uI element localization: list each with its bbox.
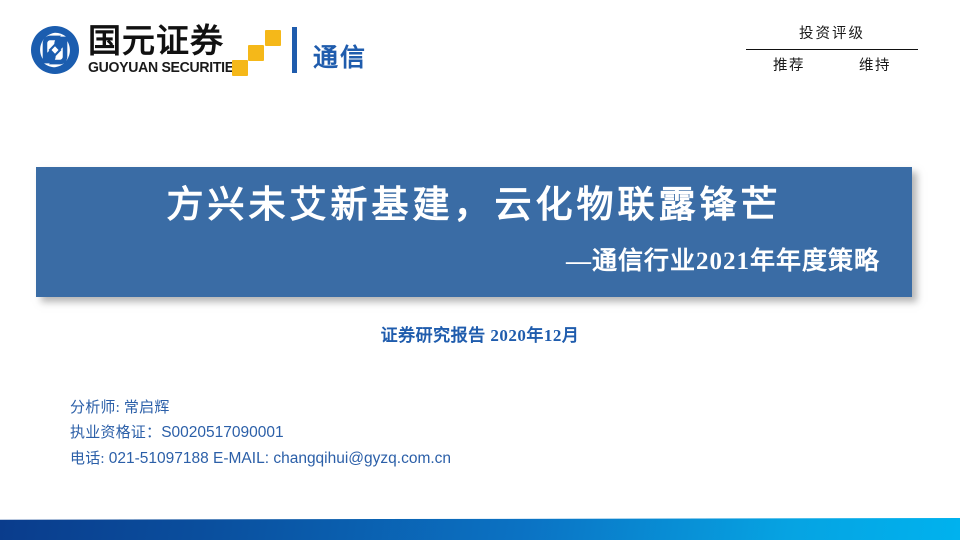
email-address[interactable]: changqihui@gyzq.com.cn <box>273 450 451 467</box>
gold-square-3 <box>265 30 281 46</box>
title-banner: 方兴未艾新基建，云化物联露锋芒 —通信行业2021年年度策略 <box>36 167 912 297</box>
analyst-name-line: 分析师: 常启辉 <box>70 396 451 420</box>
analyst-contact-line: 电话: 021-51097188 E-MAIL: changqihui@gyzq… <box>70 446 451 471</box>
report-type-line: 证券研究报告 2020年12月 <box>0 321 960 346</box>
rating-values: 推荐 维持 <box>746 54 918 75</box>
brand-block: 国元证券 GUOYUAN SECURITIES <box>30 24 248 76</box>
license-number: S0020517090001 <box>161 424 283 441</box>
gold-square-1 <box>232 60 248 76</box>
rating-title: 投资评级 <box>746 24 918 46</box>
vertical-bar-divider-icon <box>292 27 297 73</box>
analyst-license-line: 执业资格证：S0020517090001 <box>70 420 451 445</box>
page-header: 国元证券 GUOYUAN SECURITIES 通信 投资评级 推荐 维持 <box>0 0 960 110</box>
guoyuan-circular-emblem-icon <box>30 25 80 75</box>
company-name-en: GUOYUAN SECURITIES <box>88 61 243 76</box>
page-title: 方兴未艾新基建，云化物联露锋芒 <box>62 183 886 229</box>
footer-gradient-bar <box>0 518 960 540</box>
gold-square-2 <box>248 45 264 61</box>
wordmark: 国元证券 GUOYUAN SECURITIES <box>88 24 248 76</box>
email-label: E-MAIL: <box>209 450 274 467</box>
phone-label: 电话: <box>70 451 109 467</box>
rating-action: 推荐 <box>773 54 805 75</box>
page-subtitle: —通信行业2021年年度策略 <box>62 241 886 277</box>
gold-squares-icon <box>232 30 284 78</box>
sector-label: 通信 <box>313 38 367 74</box>
rating-status: 维持 <box>859 54 891 75</box>
company-name-cn: 国元证券 <box>88 24 248 58</box>
investment-rating-box: 投资评级 推荐 维持 <box>746 24 918 75</box>
license-label: 执业资格证： <box>70 425 161 441</box>
phone-number: 021-51097188 <box>109 450 209 467</box>
analyst-info-block: 分析师: 常启辉 执业资格证：S0020517090001 电话: 021-51… <box>70 396 451 471</box>
rating-divider <box>746 49 918 51</box>
